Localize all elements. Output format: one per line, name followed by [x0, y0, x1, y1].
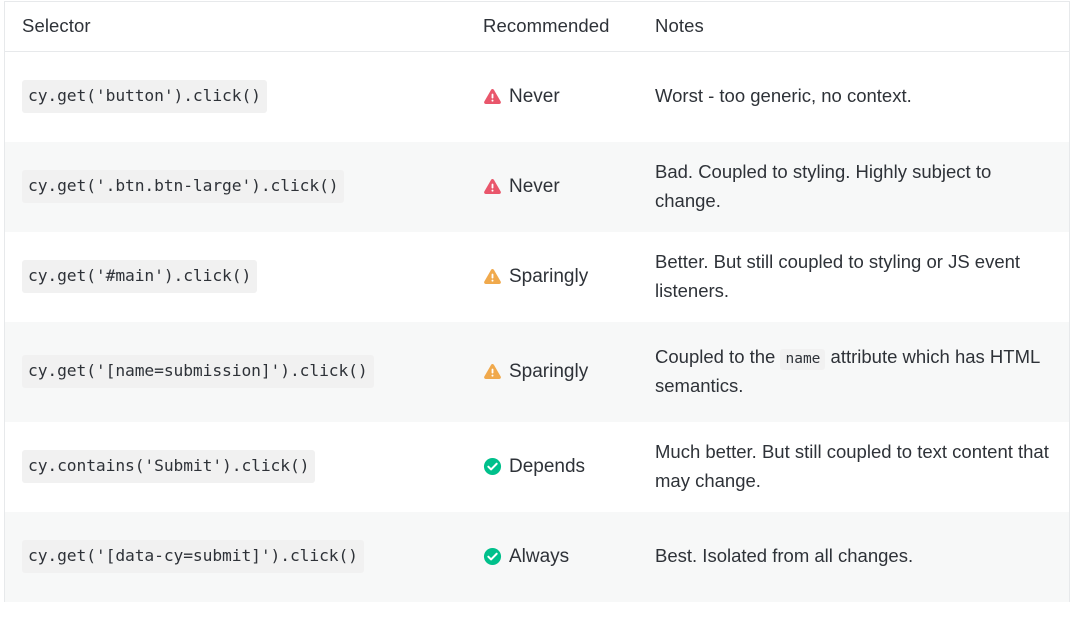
- column-header-recommended: Recommended: [474, 2, 651, 52]
- cell-notes: Bad. Coupled to styling. Highly subject …: [651, 142, 1069, 232]
- cell-recommended: Always: [474, 512, 651, 602]
- selector-best-practices-table: Selector Recommended Notes cy.get('butto…: [4, 1, 1070, 602]
- table-row: cy.get('.btn.btn-large').click()NeverBad…: [5, 142, 1069, 232]
- check-circle-icon: [483, 547, 502, 566]
- selector-code: cy.get('[data-cy=submit]').click(): [22, 540, 364, 573]
- cell-selector: cy.get('.btn.btn-large').click(): [5, 142, 474, 232]
- table-row: cy.get('button').click()NeverWorst - too…: [5, 52, 1069, 142]
- recommendation-label: Sparingly: [509, 266, 588, 288]
- recommendation-badge: Sparingly: [483, 266, 645, 288]
- warning-triangle-icon: [483, 267, 502, 286]
- warning-triangle-icon: [483, 177, 502, 196]
- table-row: cy.get('#main').click()SparinglyBetter. …: [5, 232, 1069, 322]
- column-header-notes: Notes: [651, 2, 1069, 52]
- selector-code: cy.get('#main').click(): [22, 260, 257, 293]
- recommendation-badge: Depends: [483, 456, 645, 478]
- notes-text: Much better. But still coupled to text c…: [655, 438, 1049, 495]
- table-body: cy.get('button').click()NeverWorst - too…: [5, 52, 1069, 602]
- notes-text: Better. But still coupled to styling or …: [655, 248, 1049, 305]
- cell-recommended: Depends: [474, 422, 651, 512]
- cell-notes: Best. Isolated from all changes.: [651, 512, 1069, 602]
- recommendation-badge: Always: [483, 546, 645, 568]
- cell-recommended: Sparingly: [474, 322, 651, 422]
- recommendation-label: Sparingly: [509, 361, 588, 383]
- notes-text-before: Coupled to the: [655, 346, 780, 367]
- recommendation-badge: Sparingly: [483, 361, 645, 383]
- cell-selector: cy.get('#main').click(): [5, 232, 474, 322]
- notes-text: Best. Isolated from all changes.: [655, 542, 1049, 571]
- cell-notes: Worst - too generic, no context.: [651, 52, 1069, 142]
- notes-inline-code: name: [780, 349, 825, 370]
- column-header-selector: Selector: [5, 2, 474, 52]
- cell-notes: Much better. But still coupled to text c…: [651, 422, 1069, 512]
- cell-selector: cy.get('[data-cy=submit]').click(): [5, 512, 474, 602]
- cell-notes: Better. But still coupled to styling or …: [651, 232, 1069, 322]
- header-row: Selector Recommended Notes: [5, 2, 1069, 52]
- notes-text: Bad. Coupled to styling. Highly subject …: [655, 158, 1049, 215]
- table-row: cy.contains('Submit').click()DependsMuch…: [5, 422, 1069, 512]
- cell-selector: cy.get('[name=submission]').click(): [5, 322, 474, 422]
- cell-recommended: Sparingly: [474, 232, 651, 322]
- recommendation-badge: Never: [483, 176, 645, 198]
- selector-code: cy.get('.btn.btn-large').click(): [22, 170, 344, 203]
- warning-triangle-icon: [483, 362, 502, 381]
- recommendation-badge: Never: [483, 86, 645, 108]
- notes-text: Coupled to the name attribute which has …: [655, 343, 1049, 400]
- table-row: cy.get('[data-cy=submit]').click()Always…: [5, 512, 1069, 602]
- selector-code: cy.get('[name=submission]').click(): [22, 355, 374, 388]
- table: Selector Recommended Notes cy.get('butto…: [5, 2, 1069, 602]
- cell-recommended: Never: [474, 52, 651, 142]
- recommendation-label: Always: [509, 546, 569, 568]
- table-header: Selector Recommended Notes: [5, 2, 1069, 52]
- selector-code: cy.get('button').click(): [22, 80, 267, 113]
- cell-notes: Coupled to the name attribute which has …: [651, 322, 1069, 422]
- cell-selector: cy.contains('Submit').click(): [5, 422, 474, 512]
- recommendation-label: Depends: [509, 456, 585, 478]
- check-circle-icon: [483, 457, 502, 476]
- recommendation-label: Never: [509, 86, 560, 108]
- warning-triangle-icon: [483, 87, 502, 106]
- cell-recommended: Never: [474, 142, 651, 232]
- recommendation-label: Never: [509, 176, 560, 198]
- cell-selector: cy.get('button').click(): [5, 52, 474, 142]
- notes-text: Worst - too generic, no context.: [655, 82, 1049, 111]
- selector-code: cy.contains('Submit').click(): [22, 450, 315, 483]
- table-row: cy.get('[name=submission]').click()Spari…: [5, 322, 1069, 422]
